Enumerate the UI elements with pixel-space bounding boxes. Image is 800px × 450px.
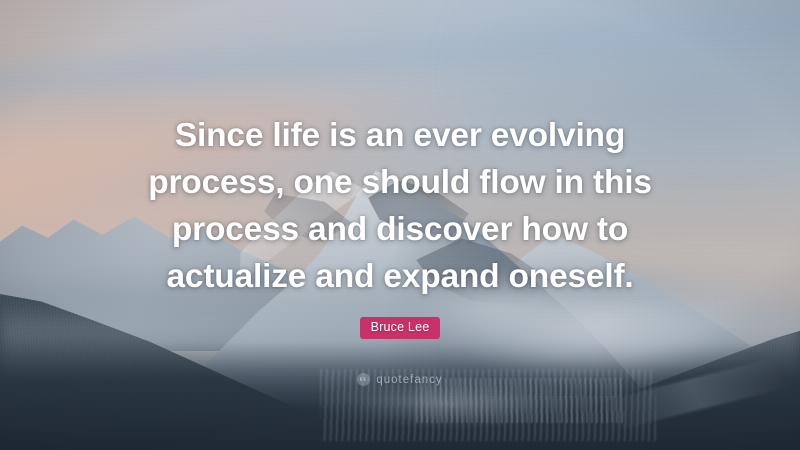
quote-wallpaper: Since life is an ever evolving process, … xyxy=(0,0,800,450)
author-badge[interactable]: Bruce Lee xyxy=(360,317,441,339)
watermark-label: quotefancy xyxy=(376,374,442,386)
author-container: Bruce Lee xyxy=(360,317,441,339)
quote-content: Since life is an ever evolving process, … xyxy=(0,0,800,450)
quote-text: Since life is an ever evolving process, … xyxy=(120,112,680,300)
quote-mark-icon xyxy=(357,373,370,386)
watermark[interactable]: quotefancy xyxy=(357,373,442,386)
